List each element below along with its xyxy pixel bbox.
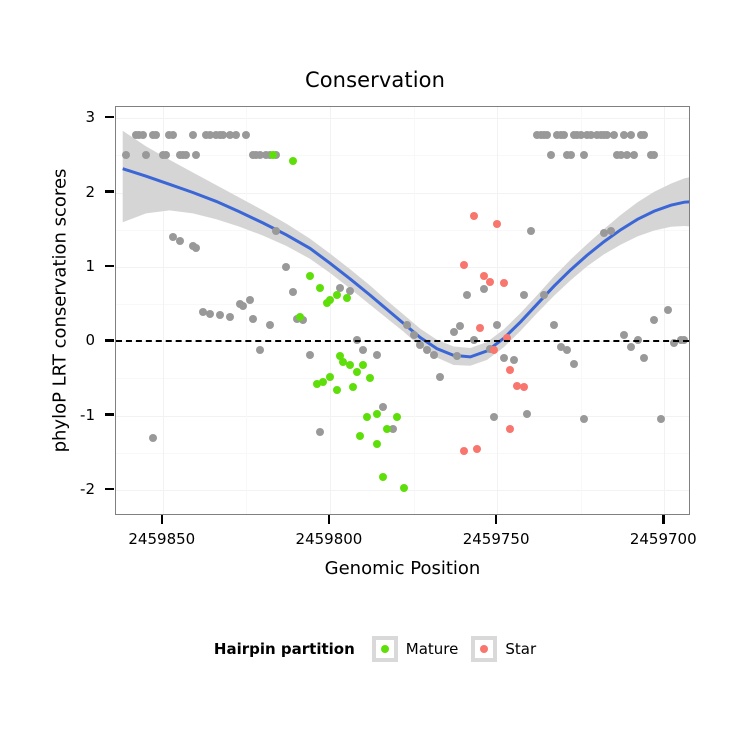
x-axis-tick-label: 2459700 xyxy=(603,530,723,548)
data-point xyxy=(610,131,618,139)
plot-area xyxy=(116,107,689,514)
legend-item[interactable]: Star xyxy=(471,636,536,662)
y-axis-tick xyxy=(105,116,114,119)
data-point xyxy=(343,294,351,302)
data-point xyxy=(640,131,648,139)
data-point xyxy=(139,131,147,139)
data-point xyxy=(410,331,418,339)
legend-key xyxy=(372,636,398,662)
data-point xyxy=(550,321,558,329)
legend-item-label: Mature xyxy=(406,640,459,658)
y-axis-tick xyxy=(105,339,114,342)
x-axis-tick-label: 2459800 xyxy=(269,530,389,548)
data-point xyxy=(256,346,264,354)
x-axis-tick xyxy=(662,515,665,524)
x-axis-tick xyxy=(161,515,164,524)
data-point xyxy=(493,220,501,228)
data-point xyxy=(480,285,488,293)
x-axis-tick xyxy=(495,515,498,524)
chart-root: Conservation phyloP LRT conservation sco… xyxy=(0,0,750,750)
legend-dot-icon xyxy=(381,645,389,653)
data-point xyxy=(152,131,160,139)
legend-item[interactable]: Mature xyxy=(372,636,459,662)
data-point xyxy=(326,373,334,381)
y-axis-tick xyxy=(105,190,114,193)
data-point xyxy=(607,227,615,235)
y-axis-tick-label: 0 xyxy=(35,331,95,349)
data-point xyxy=(206,310,214,318)
legend-dot-icon xyxy=(480,645,488,653)
data-point xyxy=(333,386,341,394)
legend-key xyxy=(471,636,497,662)
data-point xyxy=(242,131,250,139)
data-point xyxy=(373,351,381,359)
data-point xyxy=(232,131,240,139)
data-point xyxy=(383,425,391,433)
data-point xyxy=(450,328,458,336)
data-point xyxy=(393,413,401,421)
data-point xyxy=(249,315,257,323)
data-point xyxy=(543,131,551,139)
data-point xyxy=(226,313,234,321)
legend-item-label: Star xyxy=(505,640,536,658)
y-axis-tick-label: -1 xyxy=(35,406,95,424)
data-point xyxy=(664,306,672,314)
data-point xyxy=(333,291,341,299)
x-axis-tick xyxy=(328,515,331,524)
data-point xyxy=(527,227,535,235)
data-point xyxy=(316,428,324,436)
data-point xyxy=(363,413,371,421)
y-axis-title: phyloP LRT conservation scores xyxy=(50,101,71,521)
data-point xyxy=(460,447,468,455)
data-point xyxy=(266,321,274,329)
y-axis-tick xyxy=(105,488,114,491)
data-point xyxy=(493,321,501,329)
data-point xyxy=(570,360,578,368)
x-axis-tick-label: 2459850 xyxy=(102,530,222,548)
data-point xyxy=(500,279,508,287)
data-point xyxy=(627,343,635,351)
data-point xyxy=(373,440,381,448)
data-point xyxy=(540,291,548,299)
y-axis-tick-label: 2 xyxy=(35,183,95,201)
data-point xyxy=(316,284,324,292)
zero-reference-line xyxy=(116,340,689,342)
legend: Hairpin partition MatureStar xyxy=(0,636,750,662)
data-point xyxy=(520,291,528,299)
y-axis-tick-label: 3 xyxy=(35,108,95,126)
data-point xyxy=(306,272,314,280)
data-point xyxy=(176,237,184,245)
data-point xyxy=(510,356,518,364)
data-point xyxy=(216,311,224,319)
x-axis-title: Genomic Position xyxy=(115,558,690,579)
data-point xyxy=(149,434,157,442)
data-point xyxy=(567,151,575,159)
data-point xyxy=(500,354,508,362)
y-axis-tick xyxy=(105,265,114,268)
data-point xyxy=(403,321,411,329)
data-point xyxy=(306,351,314,359)
page-title: Conservation xyxy=(0,68,750,92)
data-point xyxy=(346,361,354,369)
confidence-band xyxy=(123,131,690,366)
data-point xyxy=(189,131,197,139)
data-point xyxy=(560,131,568,139)
data-point xyxy=(239,302,247,310)
legend-title: Hairpin partition xyxy=(214,640,355,658)
data-point xyxy=(430,351,438,359)
data-point xyxy=(547,151,555,159)
data-point xyxy=(313,380,321,388)
data-point xyxy=(470,212,478,220)
plot-panel xyxy=(115,106,690,515)
y-axis-tick xyxy=(105,413,114,416)
data-point xyxy=(490,413,498,421)
x-axis-tick-label: 2459750 xyxy=(436,530,556,548)
data-point xyxy=(373,410,381,418)
data-point xyxy=(169,131,177,139)
data-point xyxy=(490,346,498,354)
data-point xyxy=(627,131,635,139)
y-axis-tick-label: -2 xyxy=(35,480,95,498)
data-point xyxy=(640,354,648,362)
y-axis-tick-label: 1 xyxy=(35,257,95,275)
